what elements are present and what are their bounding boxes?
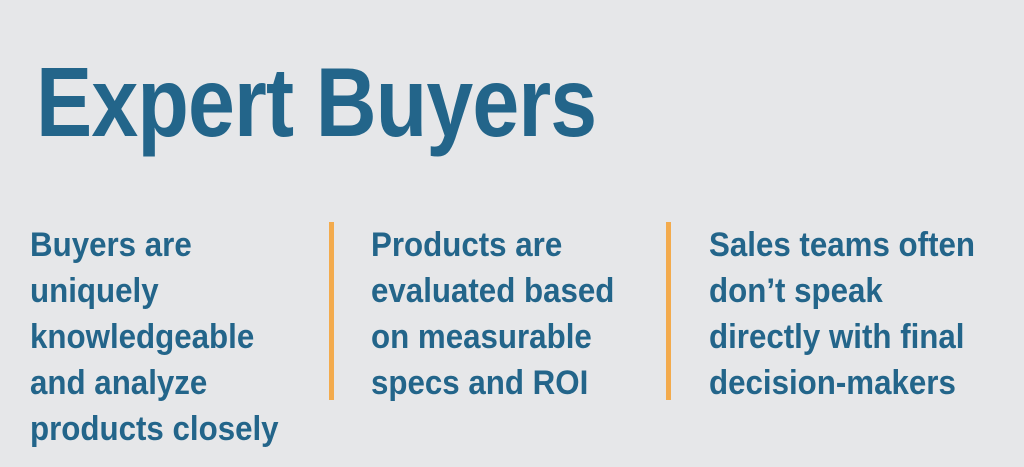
page-title: Expert Buyers xyxy=(36,52,596,152)
column-sales-access: Sales teams often don’t speak directly w… xyxy=(671,222,1024,400)
slide-canvas: Expert Buyers Buyers are uniquely knowle… xyxy=(0,0,1024,467)
column-buyers-knowledge: Buyers are uniquely knowledgeable and an… xyxy=(0,222,329,400)
column-product-evaluation: Products are evaluated based on measurab… xyxy=(334,222,667,400)
column-body-text: Products are evaluated based on measurab… xyxy=(371,222,627,406)
column-body-text: Buyers are uniquely knowledgeable and an… xyxy=(30,222,288,452)
column-body-text: Sales teams often don’t speak directly w… xyxy=(709,222,982,406)
three-column-group: Buyers are uniquely knowledgeable and an… xyxy=(0,222,1024,400)
